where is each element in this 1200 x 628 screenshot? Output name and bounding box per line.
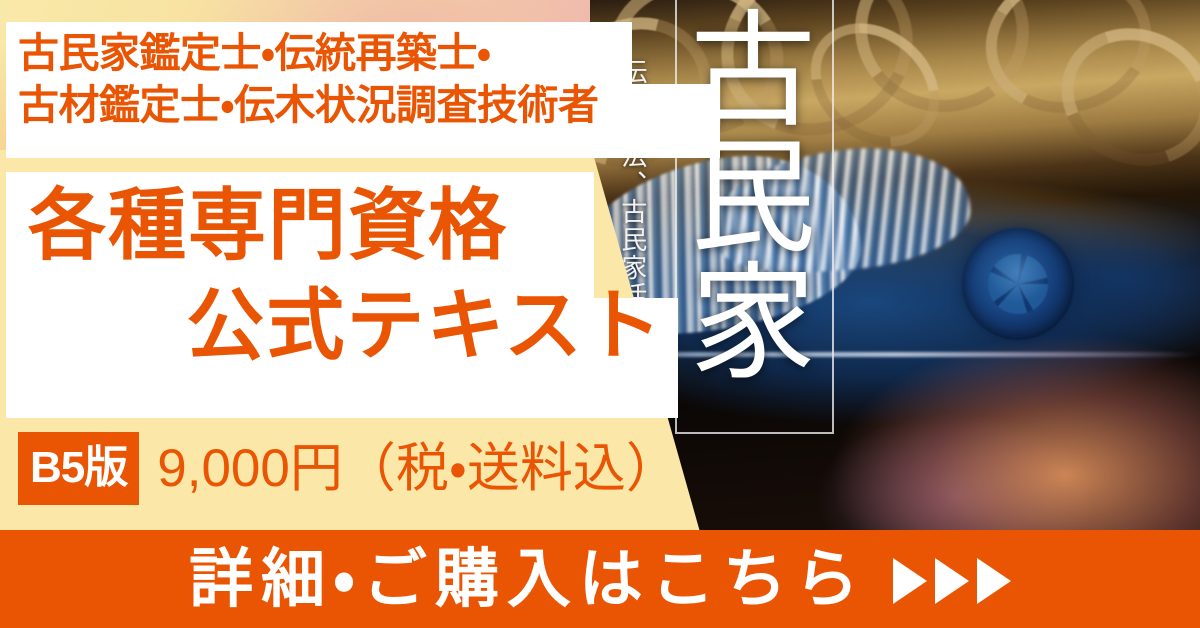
play-arrow-icon	[935, 558, 969, 604]
headline-line-1: 各種専門資格	[6, 176, 678, 276]
headline-line-2: 公式テキスト	[6, 276, 678, 376]
play-arrow-icon	[893, 558, 927, 604]
cta-bar[interactable]: 詳細・ご購入はこちら	[0, 530, 1200, 628]
qualifications-line-2: 古材鑑定士・伝木状況調査技術者	[18, 79, 718, 131]
cta-arrows	[893, 558, 1011, 604]
promo-banner: 古民家 伝統構法、古民家活用のための調査と再生の 古民家鑑定士・伝統再築士・ 古…	[0, 0, 1200, 628]
play-arrow-icon	[977, 558, 1011, 604]
headline-text: 各種専門資格 公式テキスト	[6, 176, 678, 376]
qualifications-line-1: 古民家鑑定士・伝統再築士・	[18, 27, 718, 79]
format-badge: B5版	[18, 432, 139, 505]
price-text: 9,000円（税・送料込）	[157, 442, 679, 495]
cta-label: 詳細・ご購入はこちら	[189, 547, 867, 611]
price-row: B5版 9,000円（税・送料込）	[18, 432, 679, 505]
family-crest-medallion-icon	[962, 228, 1074, 340]
qualifications-text: 古民家鑑定士・伝統再築士・ 古材鑑定士・伝木状況調査技術者	[18, 27, 718, 132]
